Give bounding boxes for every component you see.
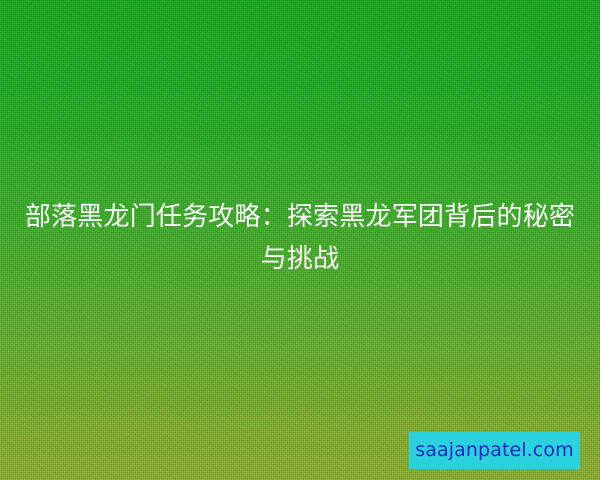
watermark-badge[interactable]: saajanpatel.com bbox=[409, 432, 580, 469]
banner-image: 部落黑龙门任务攻略：探索黑龙军团背后的秘密与挑战 saajanpatel.com bbox=[0, 0, 600, 480]
watermark-label: saajanpatel.com bbox=[415, 441, 573, 460]
title-block: 部落黑龙门任务攻略：探索黑龙军团背后的秘密与挑战 bbox=[0, 196, 600, 280]
banner-title: 部落黑龙门任务攻略：探索黑龙军团背后的秘密与挑战 bbox=[24, 196, 576, 280]
